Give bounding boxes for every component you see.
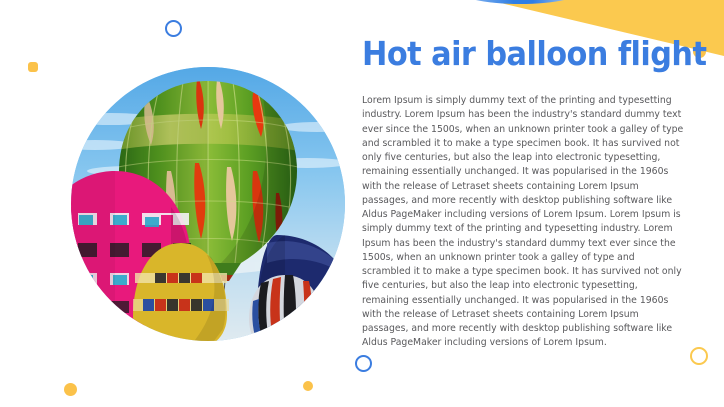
- presentation-slide: Hot air balloon flight Lorem Ipsum is si…: [0, 0, 724, 407]
- yellow-ring-decoration-bottom-right: [690, 347, 708, 365]
- blue-ring-decoration-bottom-center: [355, 355, 372, 372]
- balloon-photo-circle: [71, 67, 345, 341]
- page-title: Hot air balloon flight: [362, 36, 658, 72]
- yellow-dot-decoration-bottom-left: [64, 383, 77, 396]
- balloon-photo-illustration: [71, 67, 345, 341]
- slide-text-column: Hot air balloon flight Lorem Ipsum is si…: [362, 36, 684, 351]
- blue-ring-decoration-top-left: [165, 20, 182, 37]
- slide-body-text: Lorem Ipsum is simply dummy text of the …: [362, 94, 684, 351]
- yellow-square-decoration-left: [28, 62, 38, 72]
- yellow-dot-decoration-bottom-center: [303, 381, 313, 391]
